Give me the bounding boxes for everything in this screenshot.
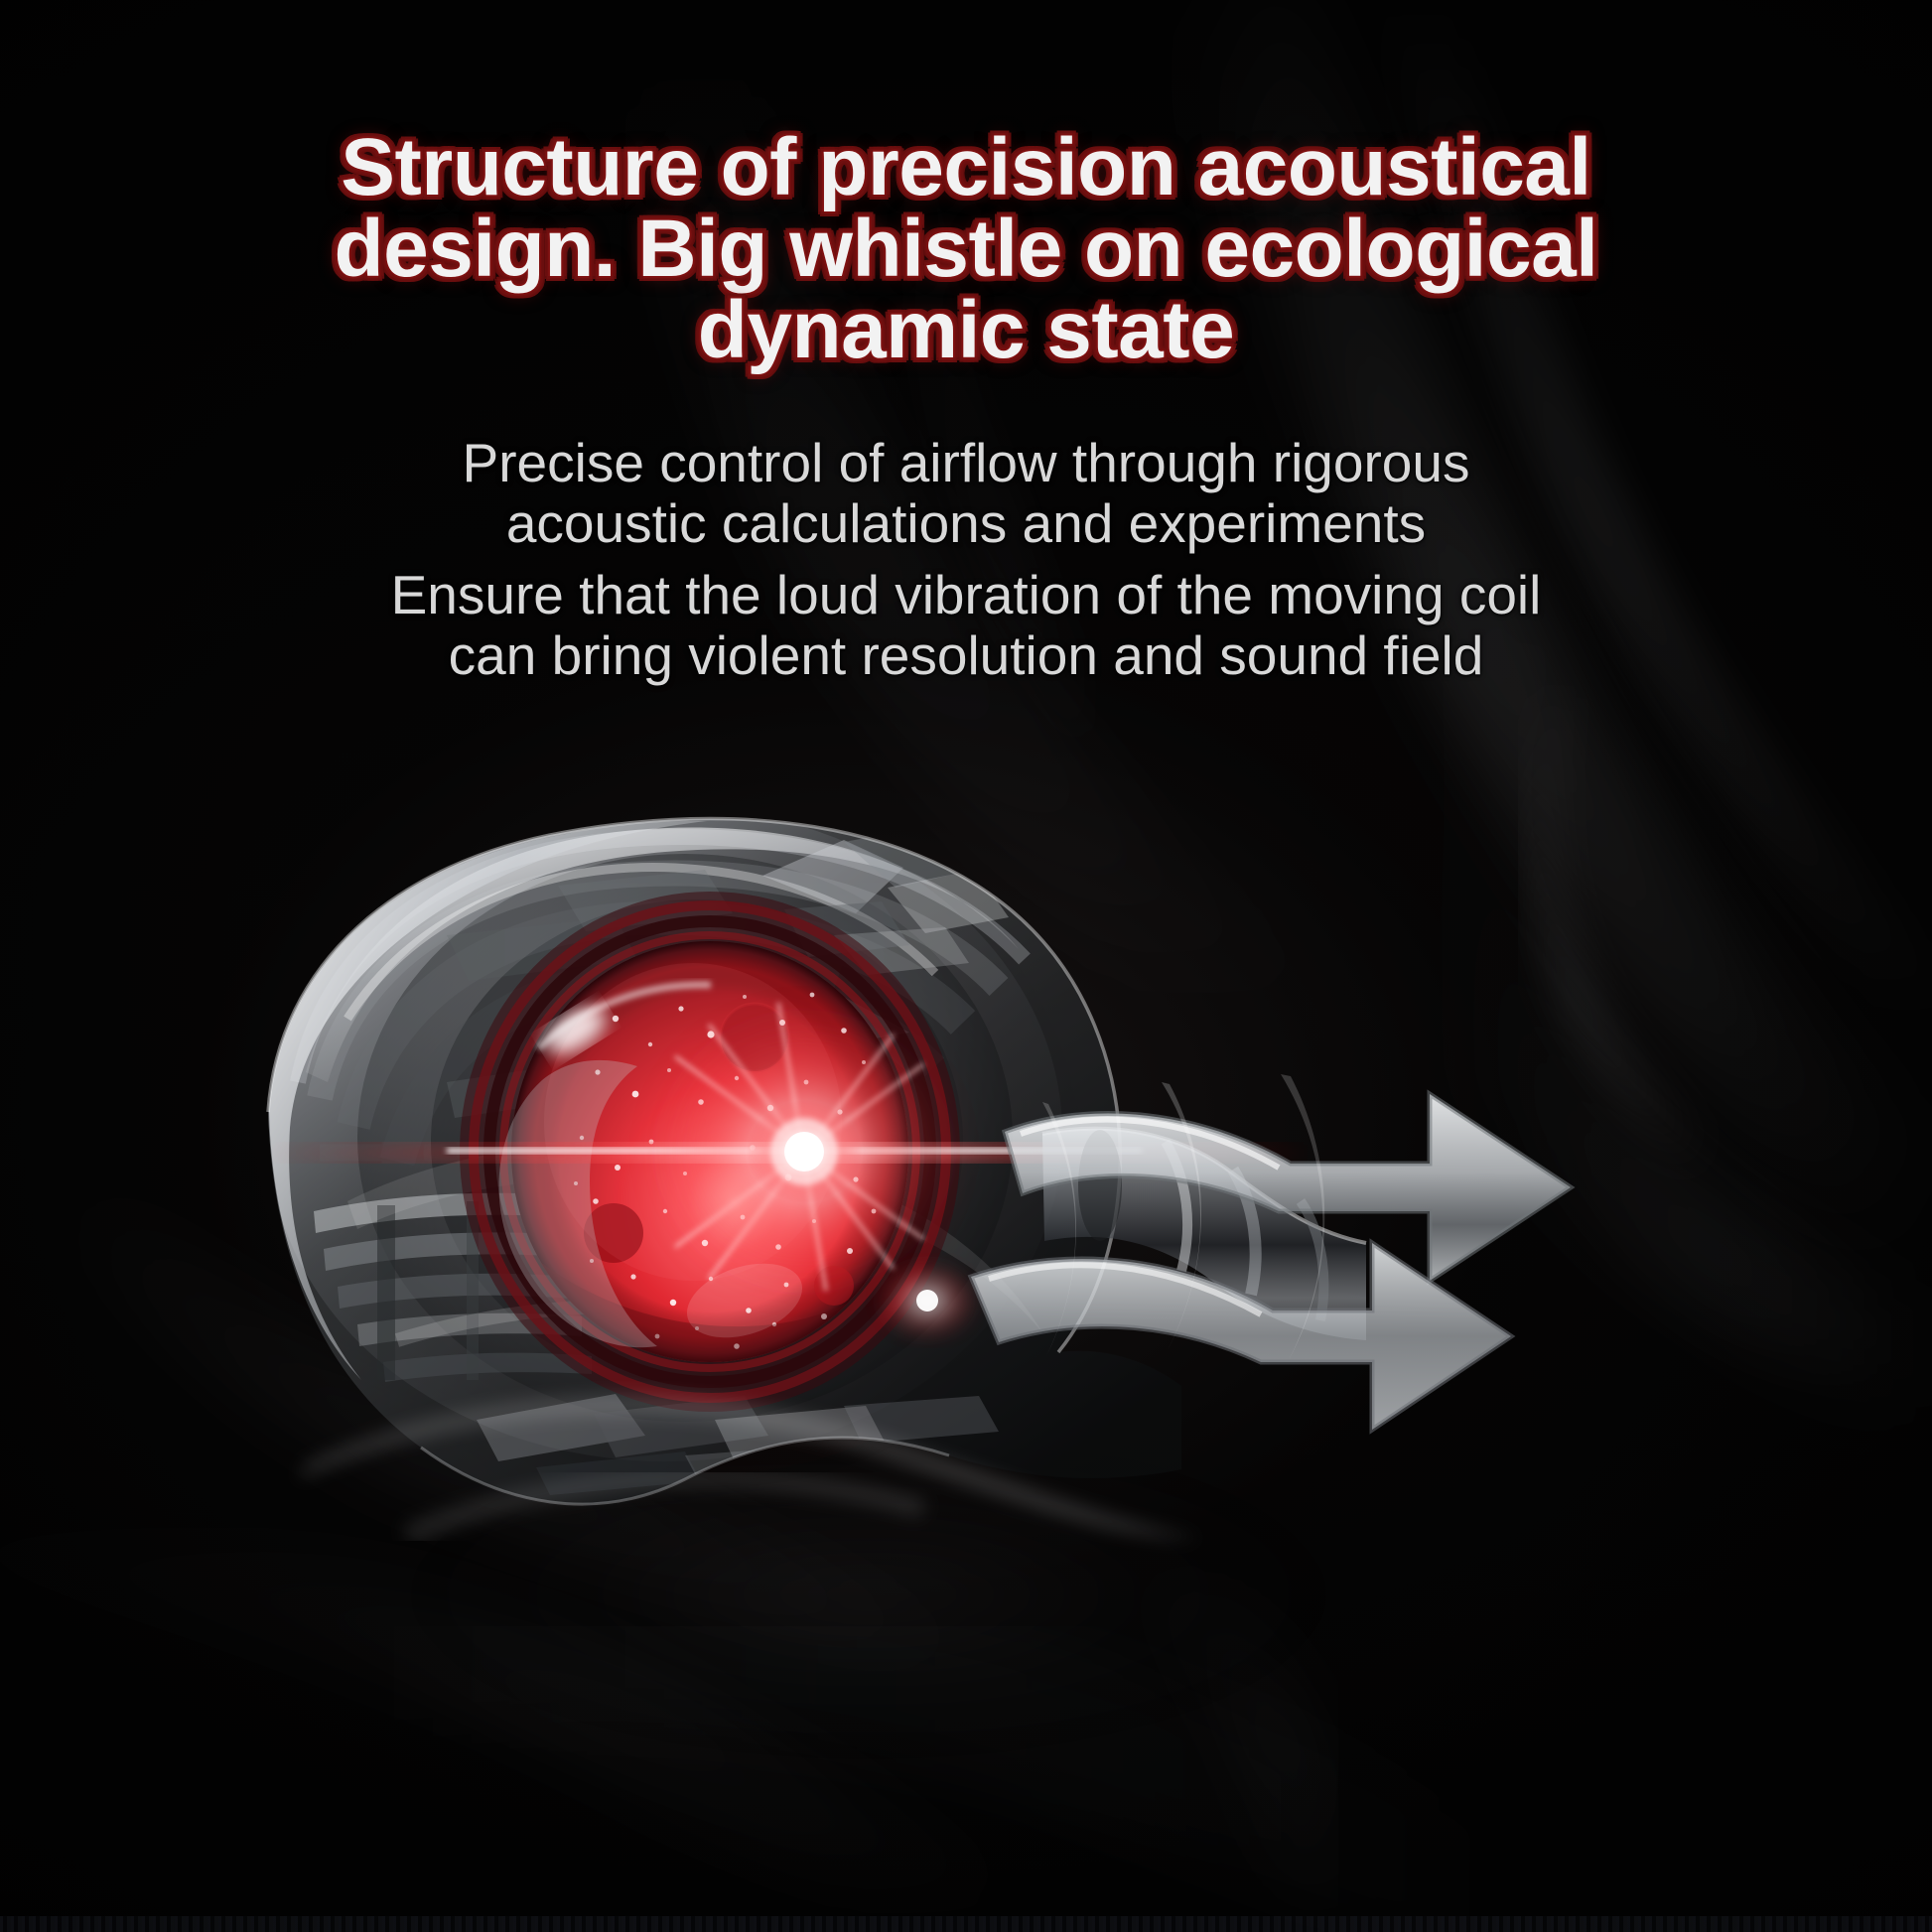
- subtitle-line-4: can bring violent resolution and sound f…: [92, 625, 1840, 686]
- headline-line-2: design. Big whistle on ecological: [122, 208, 1810, 290]
- product-feature-banner: Structure of precision acoustical design…: [0, 0, 1932, 1932]
- page-title: Structure of precision acoustical design…: [122, 127, 1810, 371]
- product-image: [149, 784, 1857, 1539]
- headline-line-1: Structure of precision acoustical: [122, 127, 1810, 208]
- subtitle-line-1: Precise control of airflow through rigor…: [92, 433, 1840, 493]
- earphone-cutaway-svg: [149, 784, 1857, 1539]
- secondary-flare: [876, 1261, 979, 1340]
- headline-line-3: dynamic state: [122, 290, 1810, 371]
- subtitle-block: Precise control of airflow through rigor…: [92, 371, 1840, 685]
- subtitle-line-2: acoustic calculations and experiments: [92, 493, 1840, 554]
- subtitle-line-3: Ensure that the loud vibration of the mo…: [92, 565, 1840, 625]
- text-block: Structure of precision acoustical design…: [0, 127, 1932, 685]
